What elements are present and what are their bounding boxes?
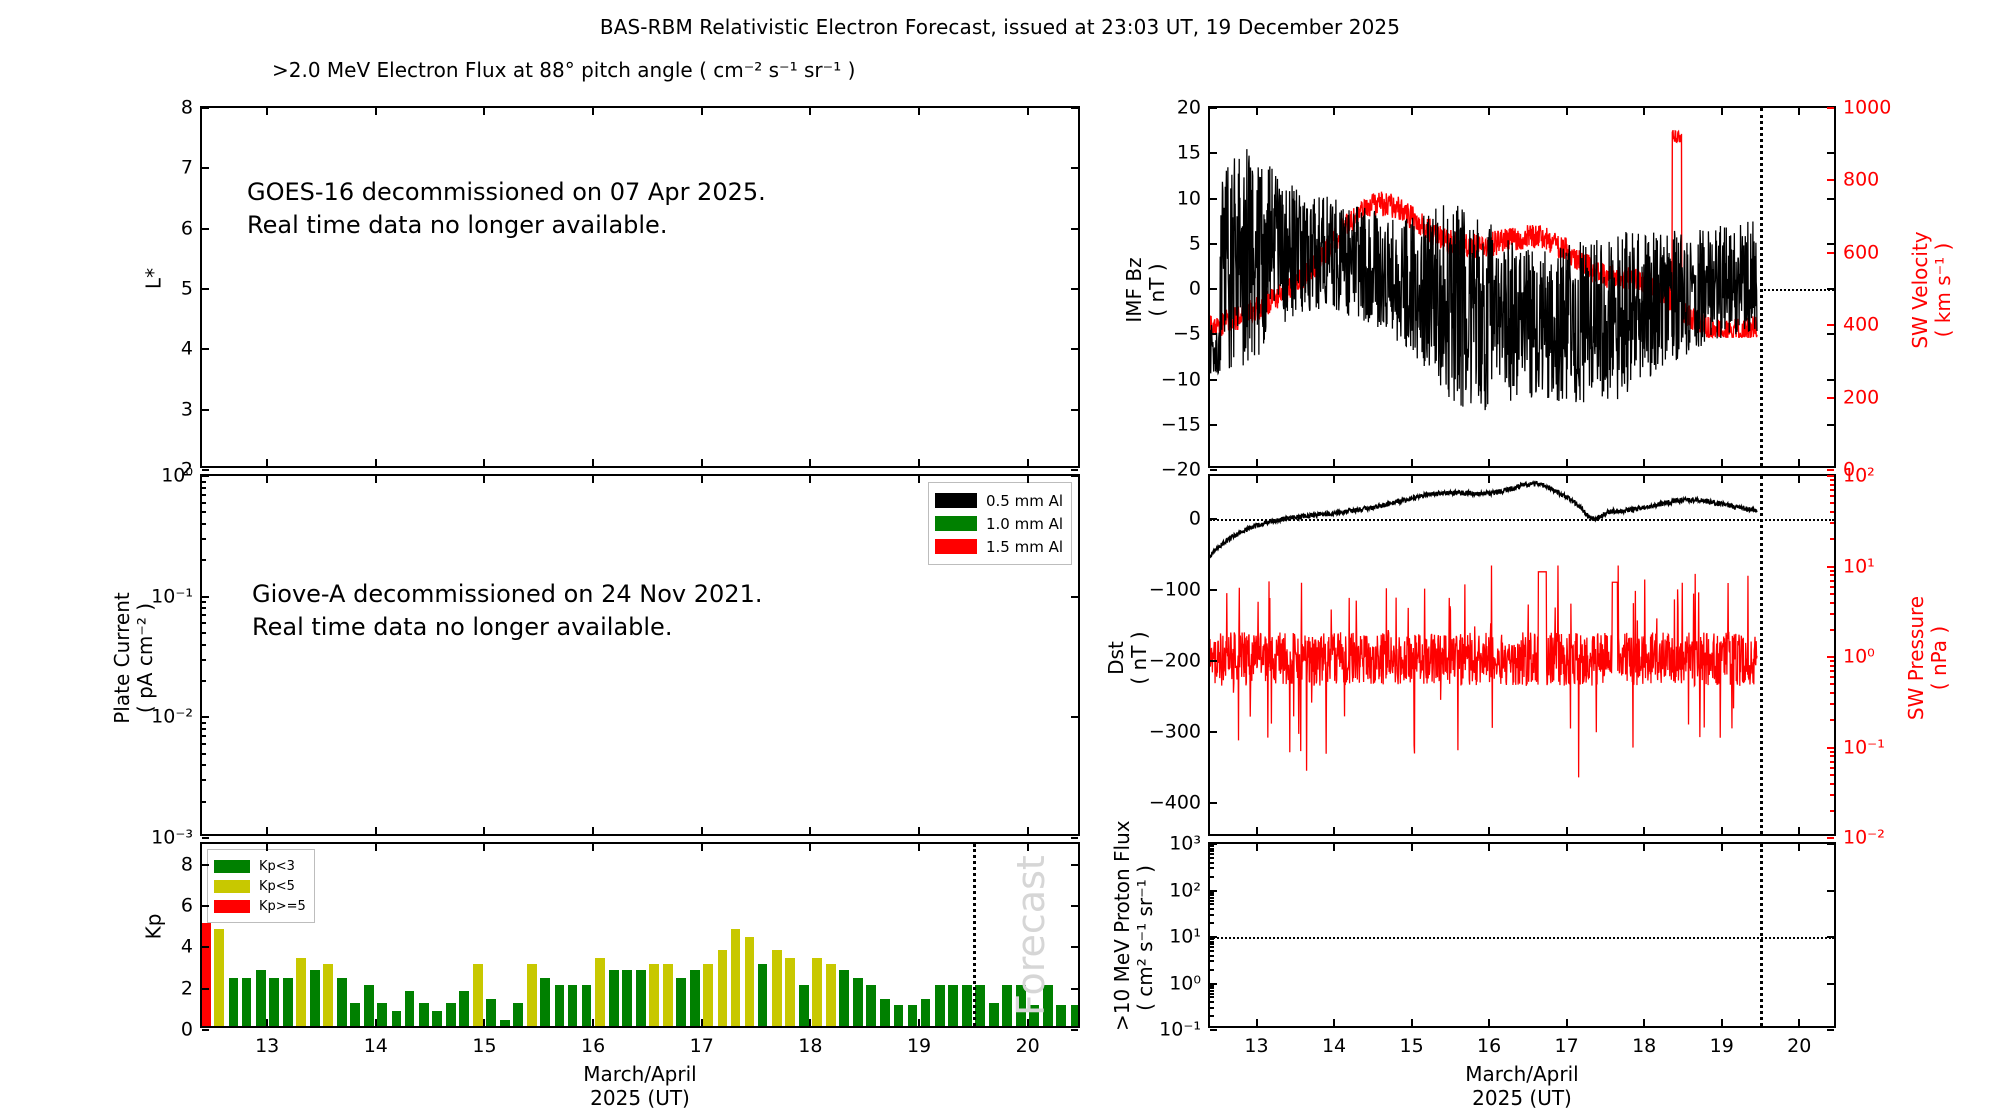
- x-tick-top: [1333, 476, 1335, 483]
- x-tick-top: [918, 108, 920, 115]
- y-minor-tick: [1210, 867, 1214, 869]
- kp-bar: [703, 964, 713, 1026]
- y-tick-right: [1827, 424, 1834, 426]
- kp-bar: [663, 964, 673, 1026]
- x-tick: [809, 827, 811, 834]
- kp-xlabel-line2: 2025 (UT): [590, 1086, 690, 1110]
- y-minor-tick: [1210, 897, 1214, 899]
- y-tick-right: [1071, 348, 1078, 350]
- plate-tick-label: 10⁰: [161, 467, 193, 486]
- electron-flux-message-line1: GOES-16 decommissioned on 07 Apr 2025.: [247, 176, 766, 208]
- x-tick-label: 14: [364, 1037, 388, 1056]
- y-minor-tick: [1210, 943, 1214, 945]
- y-minor-tick: [202, 659, 206, 661]
- kp-bar: [568, 985, 578, 1026]
- x-tick: [1721, 827, 1723, 834]
- y-minor-tick: [202, 728, 206, 730]
- y-minor-tick: [1210, 1001, 1214, 1003]
- x-tick-top: [1411, 108, 1413, 115]
- kp-bar: [745, 937, 755, 1026]
- y-tick-right: [1071, 1029, 1078, 1031]
- y-minor-tick: [202, 601, 206, 603]
- y-minor-tick: [202, 523, 206, 525]
- y-minor-tick: [202, 753, 206, 755]
- kp-bar: [758, 964, 768, 1026]
- kp-bar: [894, 1005, 904, 1026]
- x-tick-top: [266, 108, 268, 115]
- legend-swatch: [214, 900, 250, 913]
- y-tick-right: [1827, 252, 1834, 254]
- y-minor-tick: [202, 622, 206, 624]
- y-tick: [202, 409, 209, 411]
- y-tick: [202, 469, 209, 471]
- y-tick: [1210, 469, 1217, 471]
- proton-threshold-line: [1210, 937, 1834, 939]
- y-minor-tick-right: [1830, 683, 1834, 685]
- kp-bar: [880, 999, 890, 1026]
- x-tick-top: [701, 844, 703, 851]
- x-tick: [1333, 827, 1335, 834]
- legend-row: Kp>=5: [214, 897, 306, 915]
- imf-bz-tick-label: 10: [1177, 189, 1201, 208]
- y-minor-tick: [1210, 922, 1214, 924]
- y-minor-tick-right: [1830, 767, 1834, 769]
- kp-ylabel: Kp: [143, 834, 166, 1020]
- y-tick: [1210, 424, 1217, 426]
- y-tick: [1210, 589, 1217, 591]
- kp-bar: [1071, 1005, 1078, 1026]
- x-tick: [483, 1019, 485, 1026]
- y-tick: [202, 107, 209, 109]
- y-tick-right: [1071, 409, 1078, 411]
- x-tick-label: 17: [1555, 1037, 1579, 1056]
- x-tick-top: [1798, 844, 1800, 851]
- kp-tick-label: 2: [181, 979, 193, 998]
- x-tick-top: [483, 108, 485, 115]
- imf-bz-tick-label: 5: [1189, 234, 1201, 253]
- plate-current-message-line1: Giove-A decommissioned on 24 Nov 2021.: [252, 578, 762, 610]
- legend-label: 1.0 mm Al: [986, 515, 1063, 533]
- y-minor-tick: [1210, 850, 1214, 852]
- y-minor-tick: [202, 502, 206, 504]
- x-tick: [1566, 827, 1568, 834]
- y-tick: [202, 1029, 209, 1031]
- kp-bar: [377, 1003, 387, 1026]
- y-tick-right: [1827, 333, 1834, 335]
- x-tick: [1411, 1019, 1413, 1026]
- legend-label: 0.5 mm Al: [986, 492, 1063, 510]
- y-minor-tick: [202, 644, 206, 646]
- x-tick-top: [1721, 108, 1723, 115]
- x-tick-top: [1027, 108, 1029, 115]
- x-tick-top: [1566, 476, 1568, 483]
- x-tick-top: [375, 108, 377, 115]
- legend-label: Kp<3: [259, 859, 295, 874]
- y-tick-right: [1827, 243, 1834, 245]
- proton-xlabel-line1: March/April: [1465, 1062, 1578, 1086]
- y-minor-tick: [1210, 955, 1214, 957]
- sw-velocity-ylabel: SW Velocity ( km s⁻¹ ): [1909, 109, 1955, 471]
- kp-bar: [908, 1005, 918, 1026]
- y-tick-right: [1827, 198, 1834, 200]
- x-tick-top: [592, 108, 594, 115]
- y-minor-tick: [202, 494, 206, 496]
- x-tick: [1333, 459, 1335, 466]
- y-minor-tick: [202, 481, 206, 483]
- y-minor-tick: [1210, 993, 1214, 995]
- x-tick-label: 20: [1016, 1037, 1040, 1056]
- kp-bar: [962, 985, 972, 1026]
- y-tick-right: [1827, 843, 1834, 845]
- electron-flux-ylabel: L*: [143, 98, 166, 460]
- lstar-tick-label: 7: [181, 159, 193, 178]
- kp-bar: [310, 970, 320, 1026]
- y-minor-tick: [1210, 908, 1214, 910]
- plate-current-legend: 0.5 mm Al1.0 mm Al1.5 mm Al: [928, 482, 1072, 565]
- y-minor-tick-right: [1830, 660, 1834, 662]
- panel-imf-bz: 20151050−5−10−15−2010008006004002000: [1208, 106, 1836, 468]
- proton-tick-label: 10²: [1169, 881, 1201, 900]
- kp-bar: [1056, 1005, 1066, 1026]
- y-minor-tick-right: [1830, 676, 1834, 678]
- legend-swatch: [935, 516, 977, 531]
- y-minor-tick: [202, 614, 206, 616]
- kp-bar: [622, 970, 632, 1026]
- kp-xlabel-line1: March/April: [583, 1062, 696, 1086]
- y-tick: [1210, 379, 1217, 381]
- kp-bar: [785, 958, 795, 1026]
- imf-bz-tick-label: 15: [1177, 144, 1201, 163]
- kp-bar: [540, 978, 550, 1026]
- x-tick-top: [592, 844, 594, 851]
- y-tick: [1210, 802, 1217, 804]
- x-tick: [1256, 459, 1258, 466]
- y-tick-right: [1827, 397, 1834, 399]
- kp-tick-label: 8: [181, 855, 193, 874]
- y-tick-right: [1827, 890, 1834, 892]
- x-tick-label: 14: [1322, 1037, 1346, 1056]
- y-minor-tick-right: [1830, 670, 1834, 672]
- kp-bar: [202, 923, 211, 1026]
- x-tick: [375, 827, 377, 834]
- x-tick-label: 16: [581, 1037, 605, 1056]
- kp-bar: [337, 978, 347, 1026]
- imf-bz-tick-label: 20: [1177, 99, 1201, 118]
- y-tick-right: [1827, 656, 1834, 658]
- legend-swatch: [214, 880, 250, 893]
- x-tick: [592, 827, 594, 834]
- y-minor-tick-right: [1830, 665, 1834, 667]
- y-minor-tick: [1210, 892, 1214, 894]
- kp-bar: [229, 978, 239, 1026]
- legend-row: 1.5 mm Al: [935, 536, 1063, 557]
- dst-tick-label: −300: [1149, 722, 1201, 741]
- x-tick-top: [1643, 844, 1645, 851]
- x-tick: [1798, 1019, 1800, 1026]
- legend-row: 1.0 mm Al: [935, 513, 1063, 534]
- y-minor-tick-right: [1830, 593, 1834, 595]
- kp-xlabel: March/April2025 (UT): [200, 1062, 1080, 1110]
- x-tick: [592, 459, 594, 466]
- proton-tick-label: 10³: [1169, 835, 1201, 854]
- x-tick: [375, 1019, 377, 1026]
- proton-tick-label: 10⁻¹: [1159, 1021, 1201, 1040]
- kp-bar: [989, 1003, 999, 1026]
- legend-swatch: [214, 860, 250, 873]
- y-minor-tick-right: [1830, 755, 1834, 757]
- y-minor-tick: [202, 487, 206, 489]
- electron-flux-subtitle: >2.0 MeV Electron Flux at 88° pitch angl…: [272, 58, 855, 82]
- legend-swatch: [935, 493, 977, 508]
- x-tick-top: [701, 476, 703, 483]
- y-tick: [202, 988, 209, 990]
- kp-bar: [269, 978, 279, 1026]
- x-tick: [701, 459, 703, 466]
- kp-bar: [772, 950, 782, 1026]
- x-tick: [483, 459, 485, 466]
- x-tick: [701, 1019, 703, 1026]
- plate-current-message-line2: Real time data no longer available.: [252, 611, 672, 643]
- y-minor-tick: [1210, 862, 1214, 864]
- kp-bar-series: [202, 844, 1078, 1026]
- legend-label: 1.5 mm Al: [986, 538, 1063, 556]
- kp-bar: [839, 970, 849, 1026]
- x-tick-top: [701, 108, 703, 115]
- y-tick: [1210, 198, 1217, 200]
- y-minor-tick: [202, 511, 206, 513]
- kp-bar: [555, 985, 565, 1026]
- x-tick-top: [809, 108, 811, 115]
- kp-bar: [364, 985, 374, 1026]
- x-tick-top: [1798, 108, 1800, 115]
- y-tick-right: [1071, 905, 1078, 907]
- kp-bar: [214, 929, 224, 1026]
- y-tick-right: [1071, 864, 1078, 866]
- y-tick: [1210, 731, 1217, 733]
- y-minor-tick: [1210, 903, 1214, 905]
- y-minor-tick-right: [1830, 586, 1834, 588]
- x-tick: [1643, 827, 1645, 834]
- y-minor-tick: [1210, 946, 1214, 948]
- forecast-figure: BAS-RBM Relativistic Electron Forecast, …: [0, 0, 2000, 1100]
- x-tick: [918, 827, 920, 834]
- x-tick-top: [1333, 844, 1335, 851]
- x-tick-label: 18: [798, 1037, 822, 1056]
- y-tick: [202, 348, 209, 350]
- kp-tick-label: 6: [181, 897, 193, 916]
- y-tick-right: [1827, 179, 1834, 181]
- x-tick-top: [1256, 108, 1258, 115]
- y-minor-tick: [1210, 894, 1214, 896]
- sw-pressure-ylabel: SW Pressure ( nPa ): [1905, 477, 1951, 839]
- y-minor-tick-right: [1830, 783, 1834, 785]
- x-tick-label: 20: [1787, 1037, 1811, 1056]
- y-tick-right: [1071, 469, 1078, 471]
- y-minor-tick-right: [1830, 810, 1834, 812]
- x-tick: [1256, 827, 1258, 834]
- y-tick-right: [1071, 946, 1078, 948]
- x-tick: [1721, 459, 1723, 466]
- kp-bar: [432, 1011, 442, 1027]
- dst-tick-label: −100: [1149, 580, 1201, 599]
- x-tick-top: [1721, 844, 1723, 851]
- x-tick-top: [1721, 476, 1723, 483]
- x-tick-top: [1333, 108, 1335, 115]
- kp-bar: [392, 1011, 402, 1027]
- x-tick: [1488, 459, 1490, 466]
- kp-bar: [323, 964, 333, 1026]
- y-tick-right: [1827, 475, 1834, 477]
- y-tick-right: [1827, 288, 1834, 290]
- y-minor-tick: [1210, 950, 1214, 952]
- x-tick-top: [266, 476, 268, 483]
- imf-bz-ylabel: IMF Bz ( nT ): [1123, 109, 1169, 471]
- x-tick-label: 15: [1399, 1037, 1423, 1056]
- y-tick-right: [1071, 228, 1078, 230]
- forecast-watermark: Forecast: [1009, 855, 1053, 1016]
- y-minor-tick: [1210, 996, 1214, 998]
- x-tick-label: 16: [1477, 1037, 1501, 1056]
- imf-bz-now-marker: [1760, 108, 1763, 466]
- x-tick: [1566, 459, 1568, 466]
- kp-now-marker: [973, 844, 976, 1026]
- x-tick-top: [1488, 108, 1490, 115]
- kp-bar: [283, 978, 293, 1026]
- y-tick: [202, 475, 209, 477]
- proton-tick-label: 10¹: [1169, 928, 1201, 947]
- kp-bar: [718, 950, 728, 1026]
- kp-bar: [826, 964, 836, 1026]
- kp-legend: Kp<3Kp<5Kp>=5: [207, 849, 315, 923]
- x-tick: [1721, 1019, 1723, 1026]
- kp-bar: [486, 999, 496, 1026]
- y-minor-tick: [1210, 900, 1214, 902]
- x-tick-top: [1256, 476, 1258, 483]
- y-minor-tick: [202, 538, 206, 540]
- y-tick: [202, 946, 209, 948]
- y-minor-tick-right: [1830, 570, 1834, 572]
- y-tick-right: [1827, 1029, 1834, 1031]
- y-minor-tick: [202, 680, 206, 682]
- y-tick: [1210, 288, 1217, 290]
- imf-bz-series: [1210, 108, 1834, 466]
- y-minor-tick-right: [1830, 629, 1834, 631]
- y-minor-tick: [202, 779, 206, 781]
- x-tick-top: [1256, 844, 1258, 851]
- x-tick: [1488, 827, 1490, 834]
- x-tick-label: 19: [1710, 1037, 1734, 1056]
- y-minor-tick: [202, 607, 206, 609]
- proton-xlabel-line2: 2025 (UT): [1472, 1086, 1572, 1110]
- sw-velocity-tick-label: 400: [1843, 316, 1879, 335]
- x-tick-top: [1643, 108, 1645, 115]
- y-minor-tick-right: [1830, 479, 1834, 481]
- y-minor-tick: [1210, 845, 1214, 847]
- imf-bz-tick-label: −5: [1173, 325, 1201, 344]
- y-minor-tick: [1210, 1007, 1214, 1009]
- proton-tick-label: 10⁰: [1169, 974, 1201, 993]
- y-minor-tick-right: [1830, 692, 1834, 694]
- kp-bar: [935, 985, 945, 1026]
- kp-bar: [731, 929, 741, 1026]
- x-tick: [1027, 827, 1029, 834]
- x-tick-top: [1566, 844, 1568, 851]
- y-minor-tick: [1210, 876, 1214, 878]
- electron-flux-message-line2: Real time data no longer available.: [247, 209, 667, 241]
- kp-bar: [500, 1020, 510, 1026]
- y-tick-right: [1827, 469, 1834, 471]
- x-tick: [483, 827, 485, 834]
- kp-bar: [459, 991, 469, 1026]
- x-tick: [592, 1019, 594, 1026]
- sw-velocity-tick-label: 200: [1843, 388, 1879, 407]
- x-tick: [266, 827, 268, 834]
- kp-tick-label: 0: [181, 1021, 193, 1040]
- y-tick-right: [1827, 152, 1834, 154]
- kp-bar: [649, 964, 659, 1026]
- y-tick-right: [1827, 936, 1834, 938]
- y-tick-right: [1827, 107, 1834, 109]
- y-tick-right: [1827, 566, 1834, 568]
- kp-bar: [405, 991, 415, 1026]
- imf-bz-trace: [1210, 149, 1757, 410]
- y-minor-tick: [1210, 969, 1214, 971]
- plate-tick-label: 10⁻²: [151, 708, 193, 727]
- y-minor-tick-right: [1830, 484, 1834, 486]
- kp-bar: [921, 999, 931, 1026]
- kp-bar: [636, 970, 646, 1026]
- y-tick-right: [1071, 596, 1078, 598]
- y-tick-right: [1071, 107, 1078, 109]
- x-tick-label: 19: [907, 1037, 931, 1056]
- imf-bz-zero-line: [1760, 289, 1834, 291]
- x-tick-label: 15: [472, 1037, 496, 1056]
- y-tick: [202, 837, 209, 839]
- y-minor-tick: [202, 559, 206, 561]
- y-minor-tick: [202, 764, 206, 766]
- x-tick: [1333, 1019, 1335, 1026]
- y-minor-tick: [1210, 960, 1214, 962]
- x-tick-top: [918, 476, 920, 483]
- plate-tick-label: 10⁻¹: [151, 587, 193, 606]
- x-tick-top: [809, 844, 811, 851]
- y-minor-tick: [1210, 1015, 1214, 1017]
- y-minor-tick: [1210, 990, 1214, 992]
- kp-bar: [513, 1003, 523, 1026]
- proton-xlabel: March/April2025 (UT): [1208, 1062, 1836, 1110]
- y-minor-tick-right: [1830, 761, 1834, 763]
- x-tick: [1027, 1019, 1029, 1026]
- x-tick-label: 18: [1632, 1037, 1656, 1056]
- x-tick-top: [1027, 476, 1029, 483]
- y-tick: [202, 167, 209, 169]
- panel-plate-current: Giove-A decommissioned on 24 Nov 2021. R…: [200, 474, 1080, 836]
- dst-tick-label: −200: [1149, 651, 1201, 670]
- x-tick-label: 13: [255, 1037, 279, 1056]
- x-tick: [1411, 827, 1413, 834]
- sw-velocity-tick-label: 600: [1843, 243, 1879, 262]
- sw-pressure-tick-label: 10⁻²: [1843, 829, 1885, 848]
- x-tick-top: [1411, 476, 1413, 483]
- y-tick: [1210, 107, 1217, 109]
- kp-bar: [527, 964, 537, 1026]
- panel-electron-flux: GOES-16 decommissioned on 07 Apr 2025. R…: [200, 106, 1080, 468]
- dst-tick-label: 0: [1189, 509, 1201, 528]
- panel-proton-flux: 10³10²10¹10⁰10⁻¹1314151617181920: [1208, 842, 1836, 1028]
- dst-series: [1210, 476, 1834, 834]
- y-tick-right: [1071, 288, 1078, 290]
- x-tick: [1798, 459, 1800, 466]
